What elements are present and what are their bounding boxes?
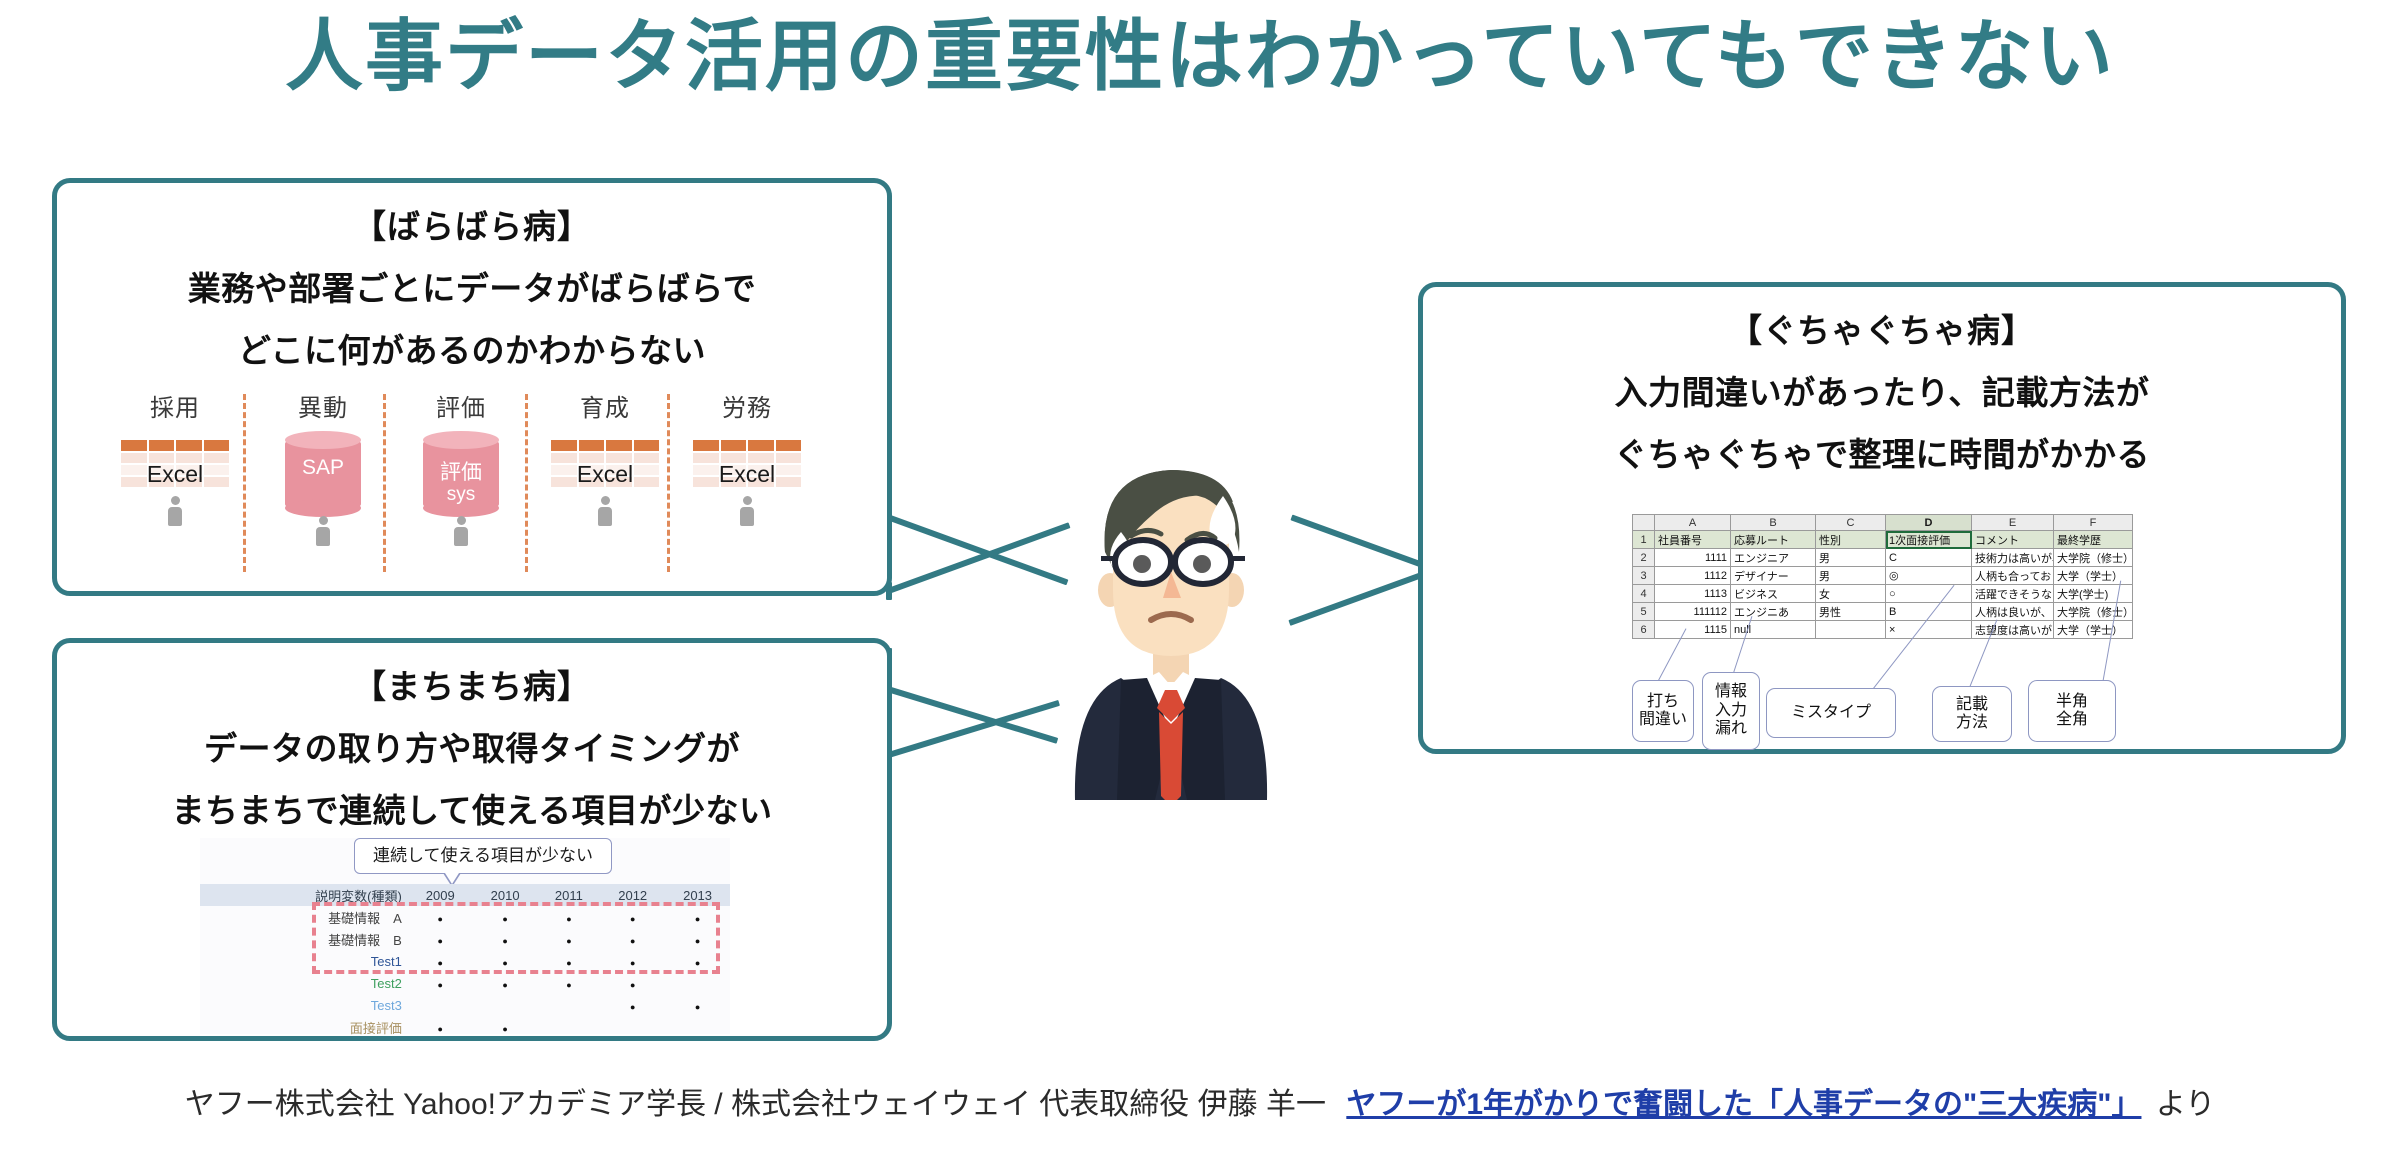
spreadsheet-row: 31112デザイナー男◎人柄も合ってお大学（学士） — [1633, 567, 2133, 585]
bubble-machimachi-tail — [886, 648, 1076, 758]
spreadsheet-cell-C6[interactable] — [1816, 621, 1886, 639]
spreadsheet-row: 5111112エンジニあ男性B人柄は良いが、大学院（修士） — [1633, 603, 2133, 621]
matrix-cell-3-0 — [408, 972, 473, 994]
matrix-cell-4-0 — [408, 994, 473, 1016]
spreadsheet-cell-F6[interactable]: 大学（学士） — [2054, 621, 2133, 639]
spreadsheet-callout-4-line-1: 全角 — [2056, 711, 2088, 729]
spreadsheet-cell-C5[interactable]: 男性 — [1816, 603, 1886, 621]
matrix-cell-4-3 — [600, 994, 665, 1016]
page-title-emph-char-2: な — [1955, 8, 2035, 106]
database-cylinder-icon-1: SAP — [285, 440, 361, 508]
page-title-emph-char-1: き — [1875, 8, 1955, 106]
spreadsheet-cell-A6[interactable]: 1115 — [1655, 621, 1731, 639]
spreadsheet-cell-B4[interactable]: ビジネス — [1731, 585, 1816, 603]
systems-column-4: 労務Excel — [687, 388, 807, 526]
spreadsheet-header-cell-F[interactable]: 最終学歴 — [2054, 531, 2133, 549]
page-title-plain: 人事データ活用の重要性はわかっていても — [285, 12, 1795, 100]
footer-credit: ヤフー株式会社 Yahoo!アカデミア学長 / 株式会社ウェイウェイ 代表取締役… — [185, 1088, 1326, 1121]
systems-divider-1 — [383, 394, 386, 572]
page-title-emph-char-3: い — [2035, 8, 2115, 106]
matrix-cell-5-3 — [600, 1016, 665, 1038]
spreadsheet-column-header-row: ABCDEF — [1633, 515, 2133, 531]
spreadsheet-cell-D6[interactable]: × — [1886, 621, 1972, 639]
excel-table-label-3: Excel — [550, 461, 660, 488]
systems-column-0: 採用Excel — [115, 388, 235, 526]
excel-table-icon-0: Excel — [120, 439, 230, 488]
businessman-svg — [1055, 440, 1285, 800]
matrix-cell-5-4 — [665, 1016, 730, 1038]
matrix-row-label-3: Test2 — [200, 972, 408, 994]
systems-column-label-4: 労務 — [687, 388, 807, 423]
matrix-cell-3-2 — [538, 972, 601, 994]
database-label-primary-1: SAP — [285, 456, 361, 480]
bubble-machimachi-title: 【まちまち病】 — [57, 660, 887, 708]
spreadsheet-cell-F2[interactable]: 大学院（修士） — [2054, 549, 2133, 567]
spreadsheet-cell-E6[interactable]: 志望度は高いが — [1972, 621, 2054, 639]
spreadsheet-col-letter-C[interactable]: C — [1816, 515, 1886, 531]
person-icon-1 — [316, 516, 330, 546]
page-title-emphasized: できない — [1795, 12, 2115, 100]
spreadsheet-row-number-2[interactable]: 2 — [1633, 549, 1655, 567]
spreadsheet-callout-4: 半角全角 — [2028, 680, 2116, 742]
spreadsheet-cell-A4[interactable]: 1113 — [1655, 585, 1731, 603]
matrix-row-label-4: Test3 — [200, 994, 408, 1016]
spreadsheet-col-letter-A[interactable]: A — [1655, 515, 1731, 531]
matrix-cell-5-0 — [408, 1016, 473, 1038]
spreadsheet-cell-F5[interactable]: 大学院（修士） — [2054, 603, 2133, 621]
spreadsheet-callout-0-line-0: 打ち — [1647, 693, 1679, 711]
person-icon-2 — [454, 516, 468, 546]
spreadsheet-callout-2-line-0: ミスタイプ — [1791, 704, 1871, 722]
spreadsheet-table: ABCDEF 1社員番号応募ルート性別1次面接評価コメント最終学歴21111エン… — [1632, 514, 2133, 639]
spreadsheet-cell-C3[interactable]: 男 — [1816, 567, 1886, 585]
spreadsheet-callout-1-line-0: 情報 — [1715, 683, 1747, 701]
spreadsheet-callout-0-line-1: 間違い — [1639, 711, 1687, 729]
spreadsheet-cell-F4[interactable]: 大学(学士) — [2054, 585, 2133, 603]
spreadsheet-row: 41113ビジネス女○活躍できそうな大学(学士) — [1633, 585, 2133, 603]
footer-suffix: より — [2156, 1088, 2215, 1121]
bubble-machimachi-line1: データの取り方や取得タイミングが — [57, 722, 887, 770]
spreadsheet-cell-A2[interactable]: 1111 — [1655, 549, 1731, 567]
footer-source-link[interactable]: ヤフーが1年がかりで奮闘した「人事データの"三大疾病"」 — [1346, 1088, 2141, 1121]
spreadsheet-cell-E2[interactable]: 技術力は高いが、 — [1972, 549, 2054, 567]
page-title-emph-char-0: で — [1795, 8, 1875, 106]
matrix-cell-5-1 — [473, 1016, 538, 1038]
matrix-row: Test2 — [200, 972, 730, 994]
person-icon-4 — [740, 496, 754, 526]
systems-column-2: 評価評価sys — [401, 388, 521, 546]
excel-table-label-4: Excel — [692, 461, 802, 488]
matrix-cell-4-1 — [473, 994, 538, 1016]
spreadsheet-row: 21111エンジニア男C技術力は高いが、大学院（修士） — [1633, 549, 2133, 567]
matrix-cell-4-2 — [538, 994, 601, 1016]
database-label-secondary-2: sys — [423, 484, 499, 506]
spreadsheet-col-letter-E[interactable]: E — [1972, 515, 2054, 531]
spreadsheet-cell-D2[interactable]: C — [1886, 549, 1972, 567]
bubble-guchagucha-line1: 入力間違いがあったり、記載方法が — [1423, 366, 2341, 414]
database-cylinder-icon-2: 評価sys — [423, 440, 499, 508]
spreadsheet-row-number-6[interactable]: 6 — [1633, 621, 1655, 639]
spreadsheet-callout-1-line-2: 漏れ — [1715, 720, 1747, 738]
spreadsheet-row-number-5[interactable]: 5 — [1633, 603, 1655, 621]
spreadsheet-callout-3: 記載方法 — [1932, 686, 2012, 742]
person-icon-0 — [168, 496, 182, 526]
matrix-row: Test3 — [200, 994, 730, 1016]
bubble-guchagucha-line2: ぐちゃぐちゃで整理に時間がかかる — [1423, 428, 2341, 476]
spreadsheet-cell-B6[interactable]: null — [1731, 621, 1816, 639]
systems-column-3: 育成Excel — [545, 388, 665, 526]
spreadsheet-cell-E4[interactable]: 活躍できそうな — [1972, 585, 2054, 603]
spreadsheet-col-letter-B[interactable]: B — [1731, 515, 1816, 531]
person-icon-3 — [598, 496, 612, 526]
excel-table-icon-3: Excel — [550, 439, 660, 488]
spreadsheet-cell-A5[interactable]: 111112 — [1655, 603, 1731, 621]
spreadsheet-callout-2: ミスタイプ — [1766, 688, 1896, 738]
bubble-barabara-line1: 業務や部署ごとにデータがばらばらで — [57, 262, 887, 310]
systems-column-1: 異動SAP — [263, 388, 383, 546]
page-title: 人事データ活用の重要性はわかっていてもできない — [285, 8, 2115, 106]
matrix-cell-3-1 — [473, 972, 538, 994]
systems-column-label-1: 異動 — [263, 388, 383, 423]
spreadsheet-cell-C2[interactable]: 男 — [1816, 549, 1886, 567]
spreadsheet-callout-1: 情報入力漏れ — [1702, 672, 1760, 750]
spreadsheet-callout-0: 打ち間違い — [1632, 680, 1694, 742]
systems-divider-3 — [667, 394, 670, 572]
spreadsheet-row-number-3[interactable]: 3 — [1633, 567, 1655, 585]
matrix-cell-3-4 — [665, 972, 730, 994]
matrix-cell-5-2 — [538, 1016, 601, 1038]
spreadsheet-row-number-1[interactable]: 1 — [1633, 531, 1655, 549]
matrix-row: 面接評価 — [200, 1016, 730, 1038]
spreadsheet-cell-D3[interactable]: ◎ — [1886, 567, 1972, 585]
spreadsheet-cell-E5[interactable]: 人柄は良いが、 — [1972, 603, 2054, 621]
spreadsheet-cell-A3[interactable]: 1112 — [1655, 567, 1731, 585]
matrix-graphic: 連続して使える項目が少ない 説明変数(種類)200920102011201220… — [200, 838, 730, 1034]
bubble-barabara-title: 【ばらばら病】 — [57, 200, 887, 248]
spreadsheet-callout-1-line-1: 入力 — [1715, 702, 1747, 720]
spreadsheet-cell-E3[interactable]: 人柄も合ってお — [1972, 567, 2054, 585]
systems-column-label-2: 評価 — [401, 388, 521, 423]
systems-column-label-3: 育成 — [545, 388, 665, 423]
matrix-highlight-box — [312, 902, 720, 974]
spreadsheet-header-cell-E[interactable]: コメント — [1972, 531, 2054, 549]
database-label-primary-2: 評価 — [423, 456, 499, 486]
matrix-cell-3-3 — [600, 972, 665, 994]
bubble-barabara-line2: どこに何があるのかわからない — [57, 324, 887, 372]
troubled-businessman-illustration — [1055, 440, 1285, 800]
spreadsheet-body: 1社員番号応募ルート性別1次面接評価コメント最終学歴21111エンジニア男C技術… — [1633, 531, 2133, 639]
spreadsheet-header-cell-C[interactable]: 性別 — [1816, 531, 1886, 549]
spreadsheet-corner-cell[interactable] — [1633, 515, 1655, 531]
spreadsheet-col-letter-D[interactable]: D — [1886, 515, 1972, 531]
spreadsheet-graphic: ABCDEF 1社員番号応募ルート性別1次面接評価コメント最終学歴21111エン… — [1632, 514, 2132, 640]
bubble-barabara-tail — [886, 470, 1076, 600]
spreadsheet-row: 61115null×志望度は高いが大学（学士） — [1633, 621, 2133, 639]
systems-divider-2 — [525, 394, 528, 572]
spreadsheet-cell-C4[interactable]: 女 — [1816, 585, 1886, 603]
systems-graphic: 採用Excel異動SAP評価評価sys育成Excel労務Excel — [115, 388, 830, 583]
matrix-callout-label: 連続して使える項目が少ない — [354, 838, 612, 874]
systems-column-label-0: 採用 — [115, 388, 235, 423]
spreadsheet-col-letters: ABCDEF — [1633, 515, 2133, 531]
matrix-row-label-5: 面接評価 — [200, 1016, 408, 1038]
spreadsheet-row-number-4[interactable]: 4 — [1633, 585, 1655, 603]
bubble-guchagucha-title: 【ぐちゃぐちゃ病】 — [1423, 304, 2341, 352]
spreadsheet-header-cell-A[interactable]: 社員番号 — [1655, 531, 1731, 549]
spreadsheet-cell-B3[interactable]: デザイナー — [1731, 567, 1816, 585]
spreadsheet-header-cell-B[interactable]: 応募ルート — [1731, 531, 1816, 549]
spreadsheet-header-row: 1社員番号応募ルート性別1次面接評価コメント最終学歴 — [1633, 531, 2133, 549]
title-container: 人事データ活用の重要性はわかっていてもできない — [0, 8, 2400, 106]
bubble-machimachi-line2: まちまちで連続して使える項目が少ない — [57, 784, 887, 832]
footer: ヤフー株式会社 Yahoo!アカデミア学長 / 株式会社ウェイウェイ 代表取締役… — [0, 1079, 2400, 1123]
spreadsheet-callouts: 打ち間違い情報入力漏れミスタイプ記載方法半角全角 — [1632, 650, 2152, 745]
bubble-guchagucha-tail — [1290, 512, 1426, 640]
spreadsheet-callout-4-line-0: 半角 — [2056, 693, 2088, 711]
spreadsheet-cell-B5[interactable]: エンジニあ — [1731, 603, 1816, 621]
spreadsheet-col-letter-F[interactable]: F — [2054, 515, 2133, 531]
systems-divider-0 — [243, 394, 246, 572]
spreadsheet-callout-3-line-0: 記載 — [1956, 696, 1988, 714]
spreadsheet-cell-D4[interactable]: ○ — [1886, 585, 1972, 603]
spreadsheet-header-cell-D[interactable]: 1次面接評価 — [1886, 531, 1972, 549]
matrix-cell-4-4 — [665, 994, 730, 1016]
excel-table-label-0: Excel — [120, 461, 230, 488]
spreadsheet-cell-B2[interactable]: エンジニア — [1731, 549, 1816, 567]
spreadsheet-callout-3-line-1: 方法 — [1956, 714, 1988, 732]
excel-table-icon-4: Excel — [692, 439, 802, 488]
